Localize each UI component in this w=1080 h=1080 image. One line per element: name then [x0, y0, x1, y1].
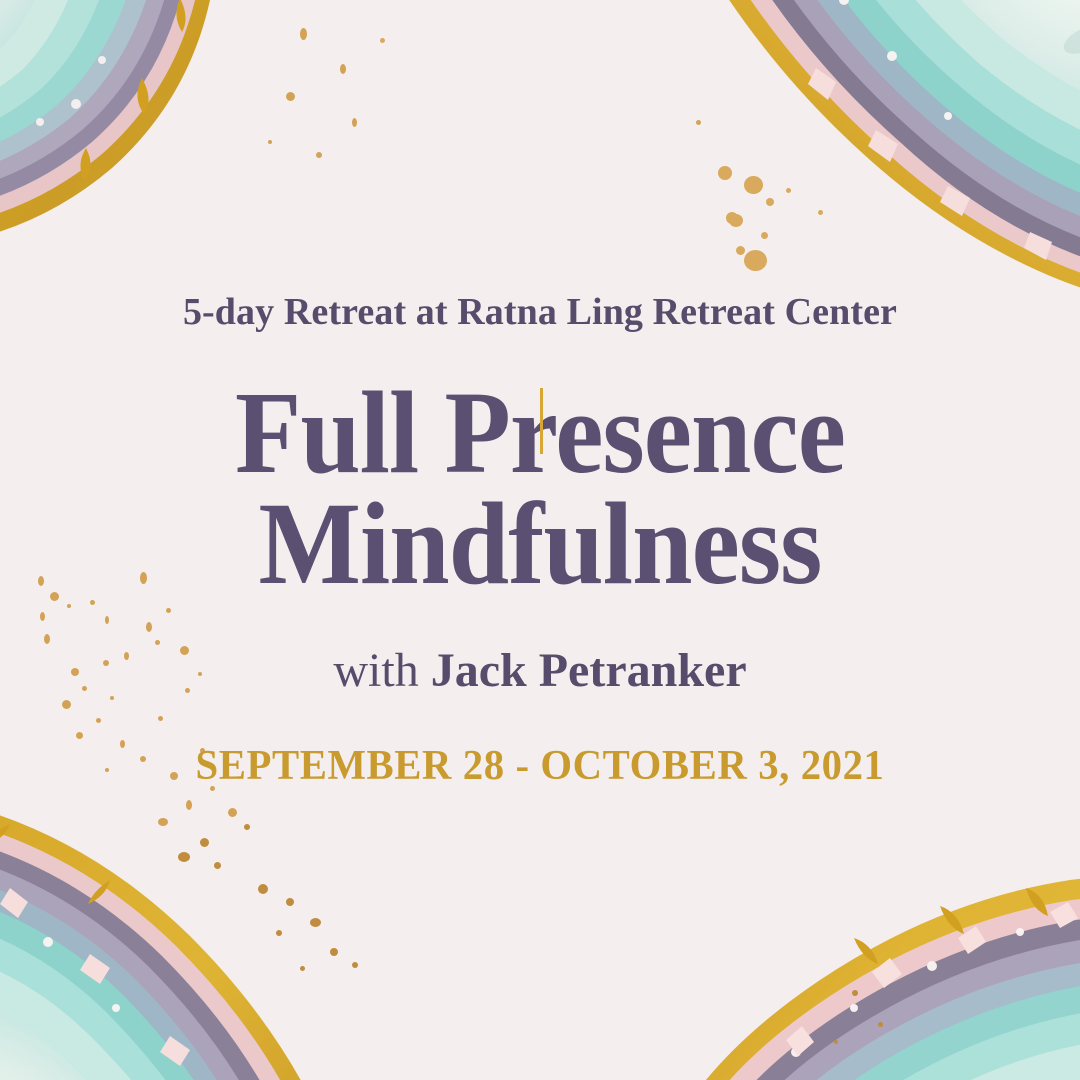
gold-accent-tick [540, 388, 543, 454]
title-line-2: Mindfulness [43, 489, 1037, 600]
poster-canvas: 5-day Retreat at Ratna Ling Retreat Cent… [0, 0, 1080, 1080]
retreat-subtitle: 5-day Retreat at Ratna Ling Retreat Cent… [0, 292, 1080, 334]
presenter-prefix: with [333, 644, 430, 697]
presenter-line: with Jack Petranker [0, 646, 1080, 696]
poster-title: Full Presence Mindfulness [0, 378, 1080, 600]
retreat-dates: SEPTEMBER 28 - OCTOBER 3, 2021 [16, 744, 1064, 788]
presenter-name: Jack Petranker [431, 644, 747, 697]
poster-text-block: 5-day Retreat at Ratna Ling Retreat Cent… [0, 292, 1080, 830]
agate-geode-top-left [0, 0, 360, 330]
